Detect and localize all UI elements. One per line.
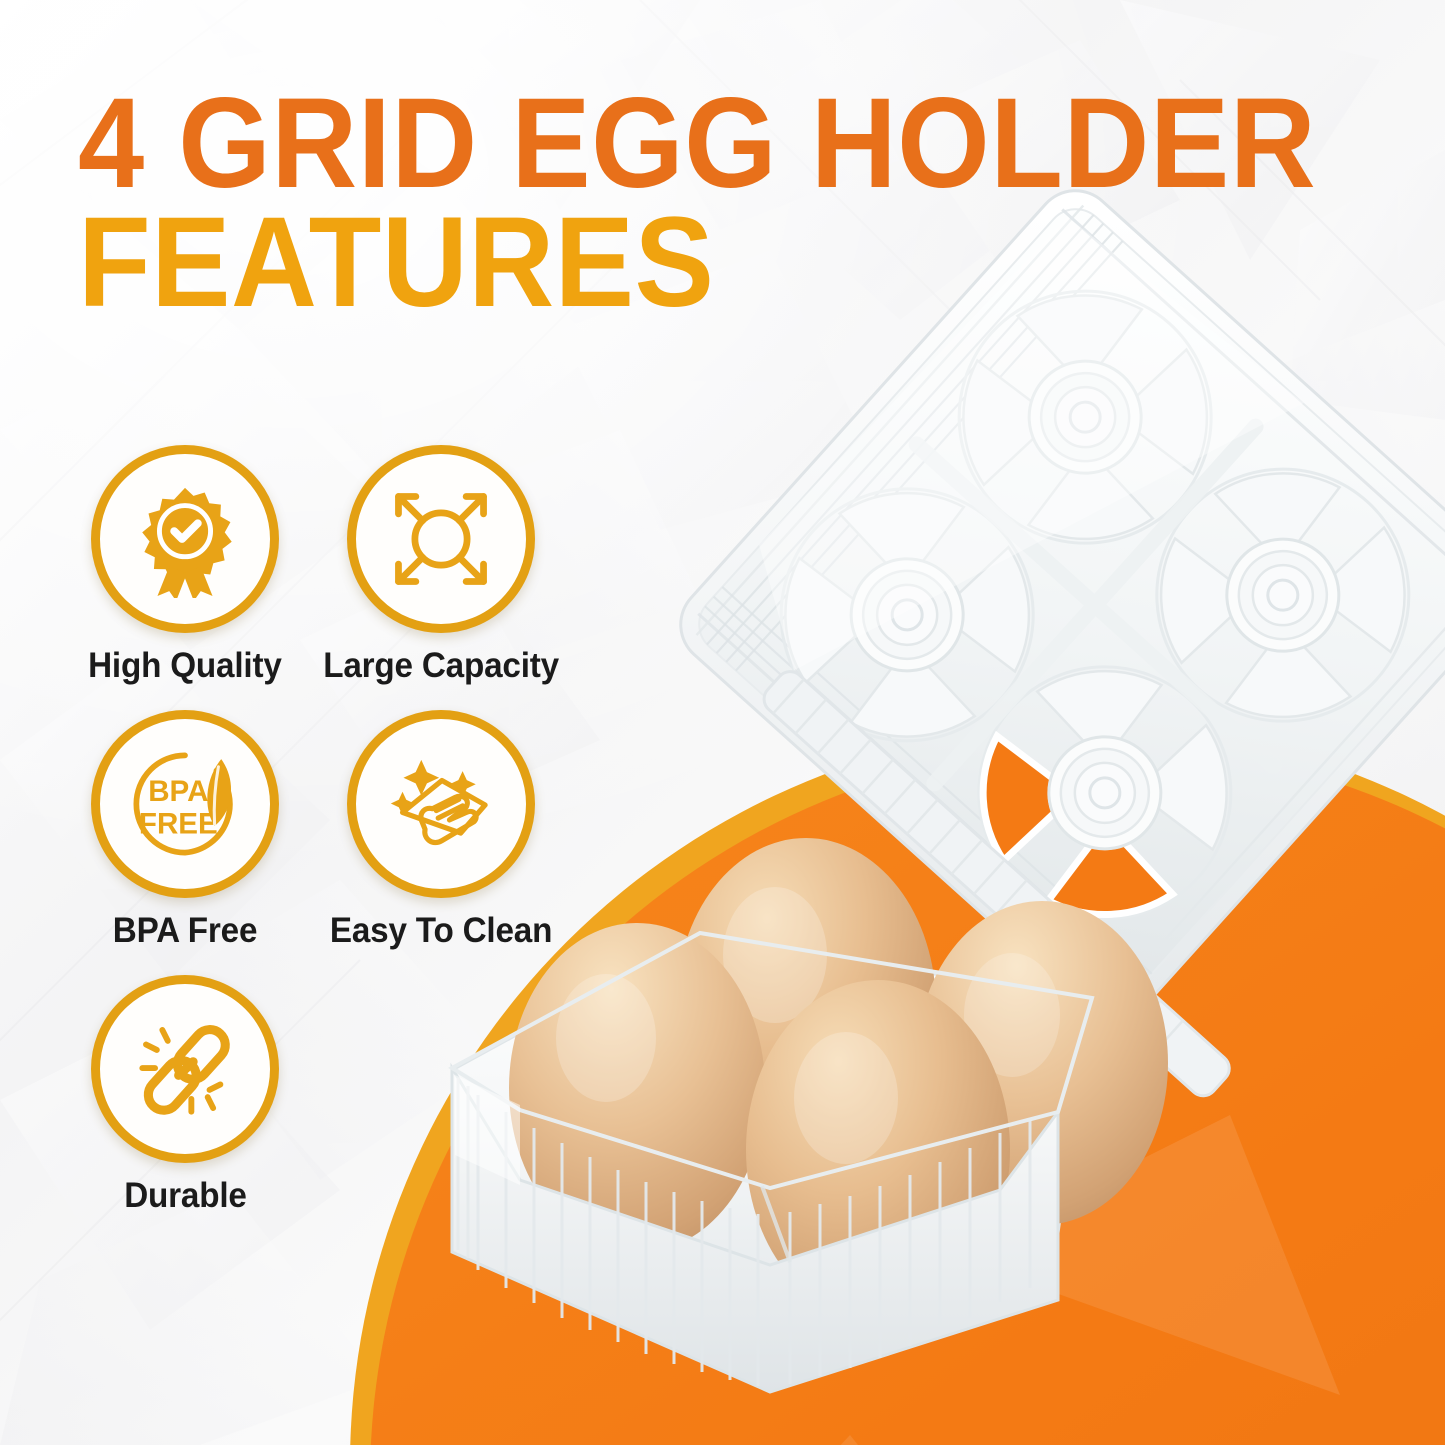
- feature-icon-circle: [91, 975, 279, 1163]
- free-text: FREE: [139, 808, 218, 841]
- expand-arrows-icon: [383, 481, 499, 597]
- chain-link-icon: [126, 1010, 244, 1128]
- feature-icon-circle: [91, 445, 279, 633]
- feature-row-1: High Quality Large Capacity: [86, 445, 606, 686]
- hand-wipe-sparkle-icon: [380, 743, 502, 865]
- bpa-text: BPA: [148, 775, 208, 808]
- feature-item-easy-to-clean[interactable]: Easy To Clean: [342, 710, 540, 951]
- feature-label: High Quality: [88, 646, 282, 686]
- bpa-free-leaf-icon: BPA FREE: [123, 742, 247, 866]
- quality-badge-icon: [126, 480, 244, 598]
- feature-item-durable[interactable]: Durable: [86, 975, 284, 1216]
- feature-row-3: Durable: [86, 975, 606, 1216]
- feature-label: Large Capacity: [323, 646, 559, 686]
- feature-item-bpa-free[interactable]: BPA FREE BPA Free: [86, 710, 284, 951]
- headline-line-2: FEATURES: [78, 207, 1250, 320]
- feature-row-2: BPA FREE BPA Free: [86, 710, 606, 951]
- feature-label: Easy To Clean: [330, 911, 552, 951]
- feature-list: High Quality Large Capacity: [86, 445, 606, 1240]
- feature-item-high-quality[interactable]: High Quality: [86, 445, 284, 686]
- headline-line-1: 4 GRID EGG HOLDER: [78, 88, 1250, 201]
- feature-label: BPA Free: [113, 911, 257, 951]
- infographic-canvas: 4 GRID EGG HOLDER FEATURES: [0, 0, 1445, 1445]
- feature-icon-circle: [347, 710, 535, 898]
- feature-label: Durable: [124, 1176, 246, 1216]
- feature-icon-circle: [347, 445, 535, 633]
- feature-icon-circle: BPA FREE: [91, 710, 279, 898]
- page-title: 4 GRID EGG HOLDER FEATURES: [78, 88, 1338, 319]
- feature-item-large-capacity[interactable]: Large Capacity: [342, 445, 540, 686]
